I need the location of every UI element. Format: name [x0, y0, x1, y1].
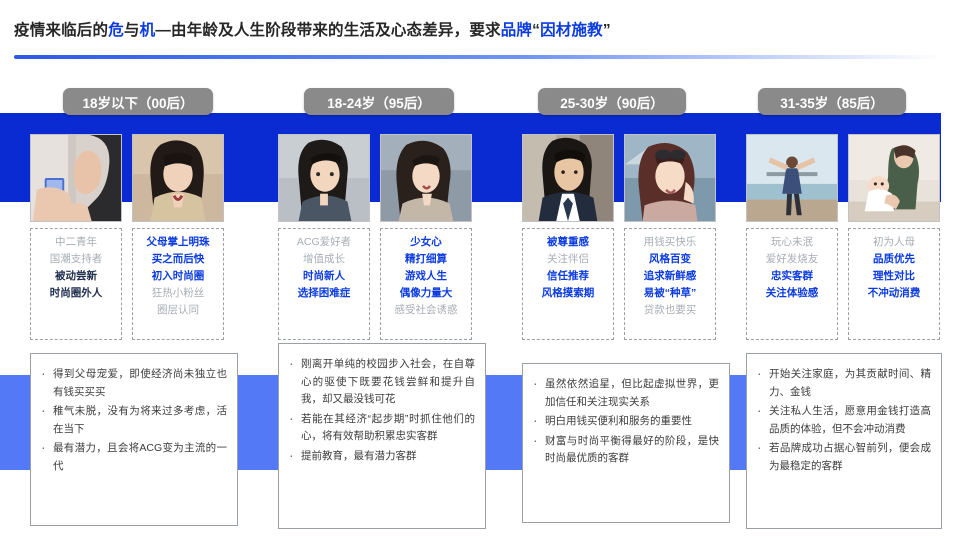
- trait-item: 易被“种草”: [644, 286, 697, 301]
- trait-item: 圈层认同: [157, 303, 199, 318]
- bullet-item: 刚离开单纯的校园步入社会，在自尊心的驱使下既要花钱尝鲜和提升自我，却又最没钱可花: [287, 356, 475, 409]
- trait-item: 选择困难症: [298, 286, 351, 301]
- trait-box: ACG爱好者 增值成长 时尚新人 选择困难症: [278, 228, 370, 340]
- trait-item: 爱好发烧友: [766, 252, 819, 267]
- photo-row: [746, 134, 940, 222]
- trait-box: 中二青年 国潮支持者 被动尝新 时尚圈外人: [30, 228, 122, 340]
- summary-box: 开始关注家庭，为其贡献时间、精力、金钱 关注私人生活，愿意用金钱打造高品质的体验…: [746, 353, 942, 529]
- photo-man-suit: [522, 134, 614, 222]
- summary-box: 虽然依然追星，但比起虚拟世界，更加信任和关注现实关系 明白用钱买便利和服务的重要…: [522, 363, 730, 523]
- bullet-item: 最有潜力，且会将ACG变为主流的一代: [39, 440, 227, 475]
- trait-item: 忠实客群: [771, 269, 813, 284]
- trait-item: 初为人母: [873, 235, 915, 250]
- trait-item: ACG爱好者: [297, 235, 351, 250]
- trait-item: 国潮支持者: [50, 252, 103, 267]
- trait-item: 中二青年: [55, 235, 97, 250]
- bullet-list: 开始关注家庭，为其贡献时间、精力、金钱 关注私人生活，愿意用金钱打造高品质的体验…: [755, 366, 931, 475]
- bullet-item: 提前教育，最有潜力客群: [287, 448, 475, 466]
- trait-box: 被尊重感 关注伴侣 信任推荐 风格摸索期: [522, 228, 614, 340]
- photo-row: [522, 134, 716, 222]
- summary-box: 刚离开单纯的校园步入社会，在自尊心的驱使下既要花钱尝鲜和提升自我，却又最没钱可花…: [278, 343, 486, 529]
- photo-mother-baby: [848, 134, 940, 222]
- bullet-item: 财富与时尚平衡得最好的阶段，是快时尚最优质的客群: [531, 433, 719, 468]
- photo-man-outdoors: [746, 134, 838, 222]
- trait-row: ACG爱好者 增值成长 时尚新人 选择困难症 少女心 精打细算 游戏人生 偶像力…: [278, 228, 472, 340]
- trait-item: 品质优先: [873, 252, 915, 267]
- trait-item: 追求新鲜感: [644, 269, 697, 284]
- age-column-25to30: 25-30岁（90后）: [516, 0, 744, 540]
- column-header-25to30: 25-30岁（90后）: [538, 88, 686, 115]
- slide-root: 疫情来临后的危与机—由年龄及人生阶段带来的生活及心态差异，要求品牌“因材施教” …: [0, 0, 960, 540]
- trait-row: 中二青年 国潮支持者 被动尝新 时尚圈外人 父母掌上明珠 买之而后快 初入时尚圈…: [30, 228, 224, 340]
- trait-item: 时尚圈外人: [50, 286, 103, 301]
- trait-item: 不冲动消费: [868, 286, 921, 301]
- photo-art: [625, 135, 715, 221]
- column-header-31to35: 31-35岁（85后）: [758, 88, 906, 115]
- trait-item: 初入时尚圈: [152, 269, 205, 284]
- column-header-under18: 18岁以下（00后）: [63, 88, 213, 115]
- photo-art: [31, 135, 121, 221]
- photo-art: [523, 135, 613, 221]
- trait-box: 少女心 精打细算 游戏人生 偶像力量大 感受社会诱惑: [380, 228, 472, 340]
- trait-item: 关注伴侣: [547, 252, 589, 267]
- trait-item: 关注体验感: [766, 286, 819, 301]
- photo-row: [30, 134, 224, 222]
- bullet-list: 刚离开单纯的校园步入社会，在自尊心的驱使下既要花钱尝鲜和提升自我，却又最没钱可花…: [287, 356, 475, 465]
- trait-item: 偶像力量大: [400, 286, 453, 301]
- photo-art: [849, 135, 939, 221]
- photo-woman-sunglasses: [624, 134, 716, 222]
- trait-box: 玩心未泯 爱好发烧友 忠实客群 关注体验感: [746, 228, 838, 340]
- trait-item: 少女心: [410, 235, 442, 250]
- bullet-item: 虽然依然追星，但比起虚拟世界，更加信任和关注现实关系: [531, 376, 719, 411]
- column-header-18to24: 18-24岁（95后）: [304, 88, 454, 115]
- bullet-item: 若品牌成功占据心智前列，便会成为最稳定的客群: [755, 440, 931, 475]
- trait-box: 用钱买快乐 风格百变 追求新鲜感 易被“种草” 贷款也要买: [624, 228, 716, 340]
- photo-young-man-card: [30, 134, 122, 222]
- trait-item: 贷款也要买: [644, 303, 697, 318]
- bullet-item: 若能在其经济“起步期”时抓住他们的心，将有效帮助积累忠实客群: [287, 411, 475, 446]
- trait-item: 信任推荐: [547, 269, 589, 284]
- trait-box: 初为人母 品质优先 理性对比 不冲动消费: [848, 228, 940, 340]
- photo-art: [747, 135, 837, 221]
- trait-item: 精打细算: [405, 252, 447, 267]
- bullet-list: 虽然依然追星，但比起虚拟世界，更加信任和关注现实关系 明白用钱买便利和服务的重要…: [531, 376, 719, 468]
- columns-container: 18岁以下（00后）: [0, 0, 960, 540]
- trait-item: 父母掌上明珠: [147, 235, 210, 250]
- photo-young-woman-portrait: [380, 134, 472, 222]
- trait-item: 感受社会诱惑: [395, 303, 458, 318]
- photo-young-man-portrait: [278, 134, 370, 222]
- trait-item: 风格摸索期: [542, 286, 595, 301]
- bullet-item: 关注私人生活，愿意用金钱打造高品质的体验，但不会冲动消费: [755, 403, 931, 438]
- trait-item: 用钱买快乐: [644, 235, 697, 250]
- trait-row: 被尊重感 关注伴侣 信任推荐 风格摸索期 用钱买快乐 风格百变 追求新鲜感 易被…: [522, 228, 716, 340]
- trait-item: 被尊重感: [547, 235, 589, 250]
- trait-item: 时尚新人: [303, 269, 345, 284]
- age-column-18to24: 18-24岁（95后）: [272, 0, 500, 540]
- bullet-item: 稚气未脱，没有为将来过多考虑，活在当下: [39, 403, 227, 438]
- bullet-item: 明白用钱买便利和服务的重要性: [531, 413, 719, 431]
- age-column-31to35: 31-35岁（85后）: [742, 0, 952, 540]
- trait-item: 狂热小粉丝: [152, 286, 205, 301]
- bullet-list: 得到父母宠爱，即使经济尚未独立也有钱买买买 稚气未脱，没有为将来过多考虑，活在当…: [39, 366, 227, 475]
- bullet-item: 得到父母宠爱，即使经济尚未独立也有钱买买买: [39, 366, 227, 401]
- age-column-under18: 18岁以下（00后）: [24, 0, 252, 540]
- trait-box: 父母掌上明珠 买之而后快 初入时尚圈 狂热小粉丝 圈层认同: [132, 228, 224, 340]
- photo-young-woman-selfie: [132, 134, 224, 222]
- trait-row: 玩心未泯 爱好发烧友 忠实客群 关注体验感 初为人母 品质优先 理性对比 不冲动…: [746, 228, 940, 340]
- photo-art: [133, 135, 223, 221]
- trait-item: 增值成长: [303, 252, 345, 267]
- photo-row: [278, 134, 472, 222]
- trait-item: 玩心未泯: [771, 235, 813, 250]
- trait-item: 游戏人生: [405, 269, 447, 284]
- photo-art: [381, 135, 471, 221]
- trait-item: 被动尝新: [55, 269, 97, 284]
- trait-item: 买之而后快: [152, 252, 205, 267]
- bullet-item: 开始关注家庭，为其贡献时间、精力、金钱: [755, 366, 931, 401]
- summary-box: 得到父母宠爱，即使经济尚未独立也有钱买买买 稚气未脱，没有为将来过多考虑，活在当…: [30, 353, 238, 526]
- photo-art: [279, 135, 369, 221]
- trait-item: 风格百变: [649, 252, 691, 267]
- trait-item: 理性对比: [873, 269, 915, 284]
